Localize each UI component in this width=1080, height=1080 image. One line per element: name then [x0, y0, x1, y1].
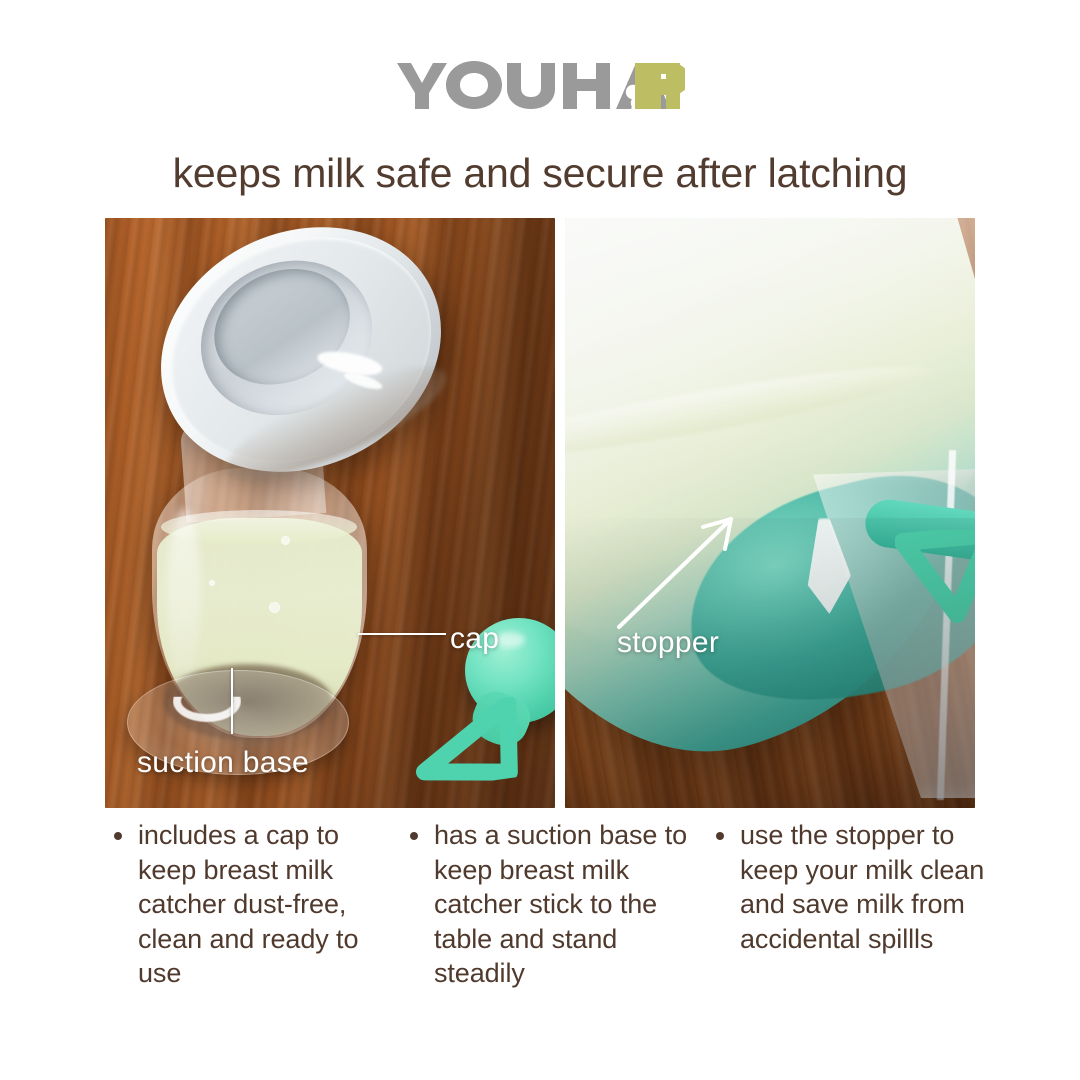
list-item: has a suction base to keep breast milk c…	[401, 818, 707, 991]
list-item: use the stopper to keep your milk clean …	[707, 818, 995, 956]
infographic-page: keeps milk safe and secure after latchin…	[0, 0, 1080, 1080]
youhaph-logo-svg	[395, 57, 685, 113]
stopper-ball-highlight	[495, 632, 525, 648]
bullet-text: includes a cap to keep breast milk catch…	[138, 820, 358, 988]
annotation-stopper: stopper	[617, 626, 719, 660]
photo-left: cap suction base	[105, 218, 555, 808]
bullet-text: use the stopper to keep your milk clean …	[740, 820, 984, 954]
cap-leader-line	[358, 633, 446, 635]
milk-bubble	[269, 602, 280, 613]
annotation-suction-base: suction base	[137, 746, 309, 780]
bullet-dot-icon	[410, 832, 418, 840]
milk-bubble	[209, 580, 215, 586]
brand-logo	[0, 58, 1080, 112]
bullet-column-1: includes a cap to keep breast milk catch…	[105, 818, 401, 991]
stopper-triangle-loop	[396, 695, 534, 792]
feature-bullets: includes a cap to keep breast milk catch…	[105, 818, 995, 991]
stopper-arrow	[595, 493, 755, 638]
photo-row: cap suction base	[105, 218, 975, 808]
milk-bubble	[281, 536, 290, 545]
youhaph-logo	[395, 58, 685, 112]
bullet-column-2: has a suction base to keep breast milk c…	[401, 818, 707, 991]
page-headline: keeps milk safe and secure after latchin…	[0, 150, 1080, 197]
bullet-text: has a suction base to keep breast milk c…	[434, 820, 687, 988]
bottle-highlight	[167, 508, 201, 688]
list-item: includes a cap to keep breast milk catch…	[105, 818, 401, 991]
suction-base-leader-line	[231, 668, 233, 734]
bullet-dot-icon	[114, 832, 122, 840]
photo-right: stopper	[565, 218, 975, 808]
bullet-column-3: use the stopper to keep your milk clean …	[707, 818, 995, 991]
annotation-cap: cap	[450, 622, 499, 656]
bullet-dot-icon	[716, 832, 724, 840]
